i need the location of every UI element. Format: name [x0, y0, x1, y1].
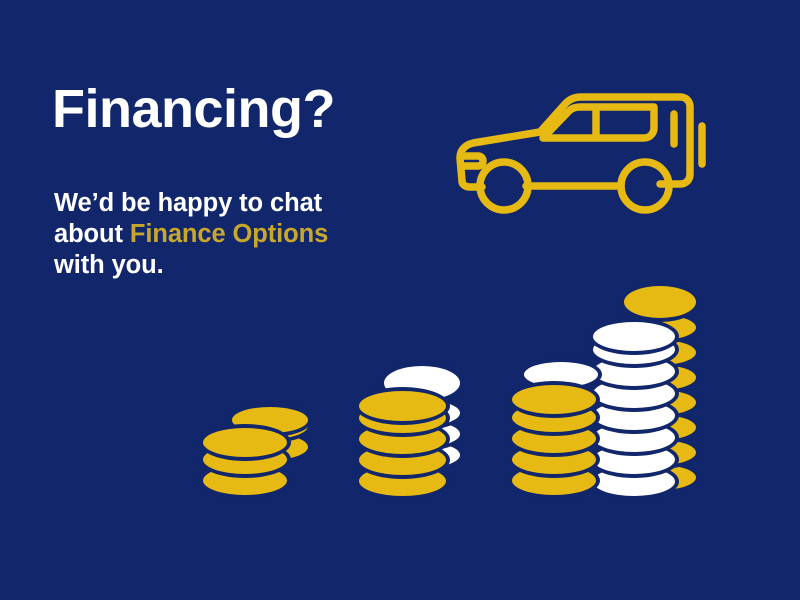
coin: [199, 424, 291, 461]
subcopy-line-2-prefix: about: [54, 220, 130, 248]
suv-car-outline-icon: [448, 86, 708, 218]
financing-promo-slide: Financing? We’d be happy to chat about F…: [0, 0, 800, 600]
coin: [589, 318, 679, 355]
subcopy-line-1: We’d be happy to chat: [54, 188, 328, 219]
coin: [620, 282, 700, 322]
subcopy-block: We’d be happy to chat about Finance Opti…: [54, 188, 328, 281]
page-title: Financing?: [52, 79, 335, 139]
subcopy-line-2: about Finance Options: [54, 219, 328, 250]
finance-options-highlight: Finance Options: [130, 220, 328, 248]
subcopy-line-3: with you.: [54, 250, 328, 281]
coin: [508, 381, 600, 418]
coin: [355, 387, 450, 425]
